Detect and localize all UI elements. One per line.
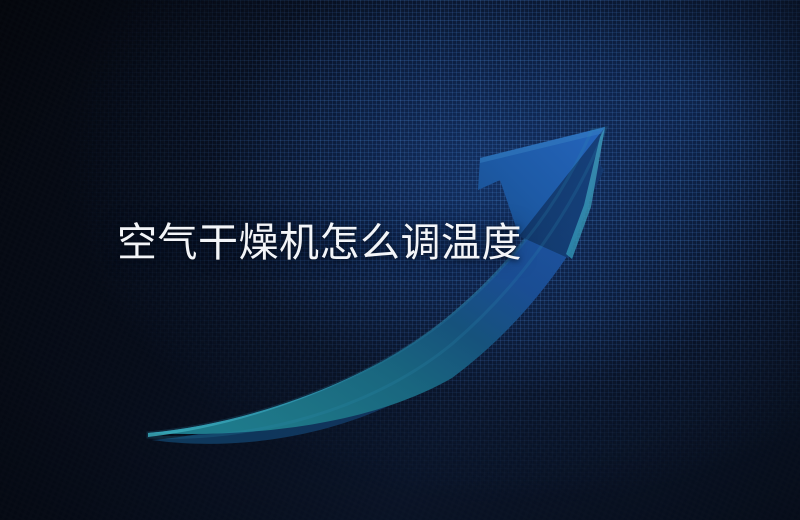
page-title: 空气干燥机怎么调温度: [117, 220, 522, 266]
banner-image: 空气干燥机怎么调温度: [0, 0, 800, 520]
